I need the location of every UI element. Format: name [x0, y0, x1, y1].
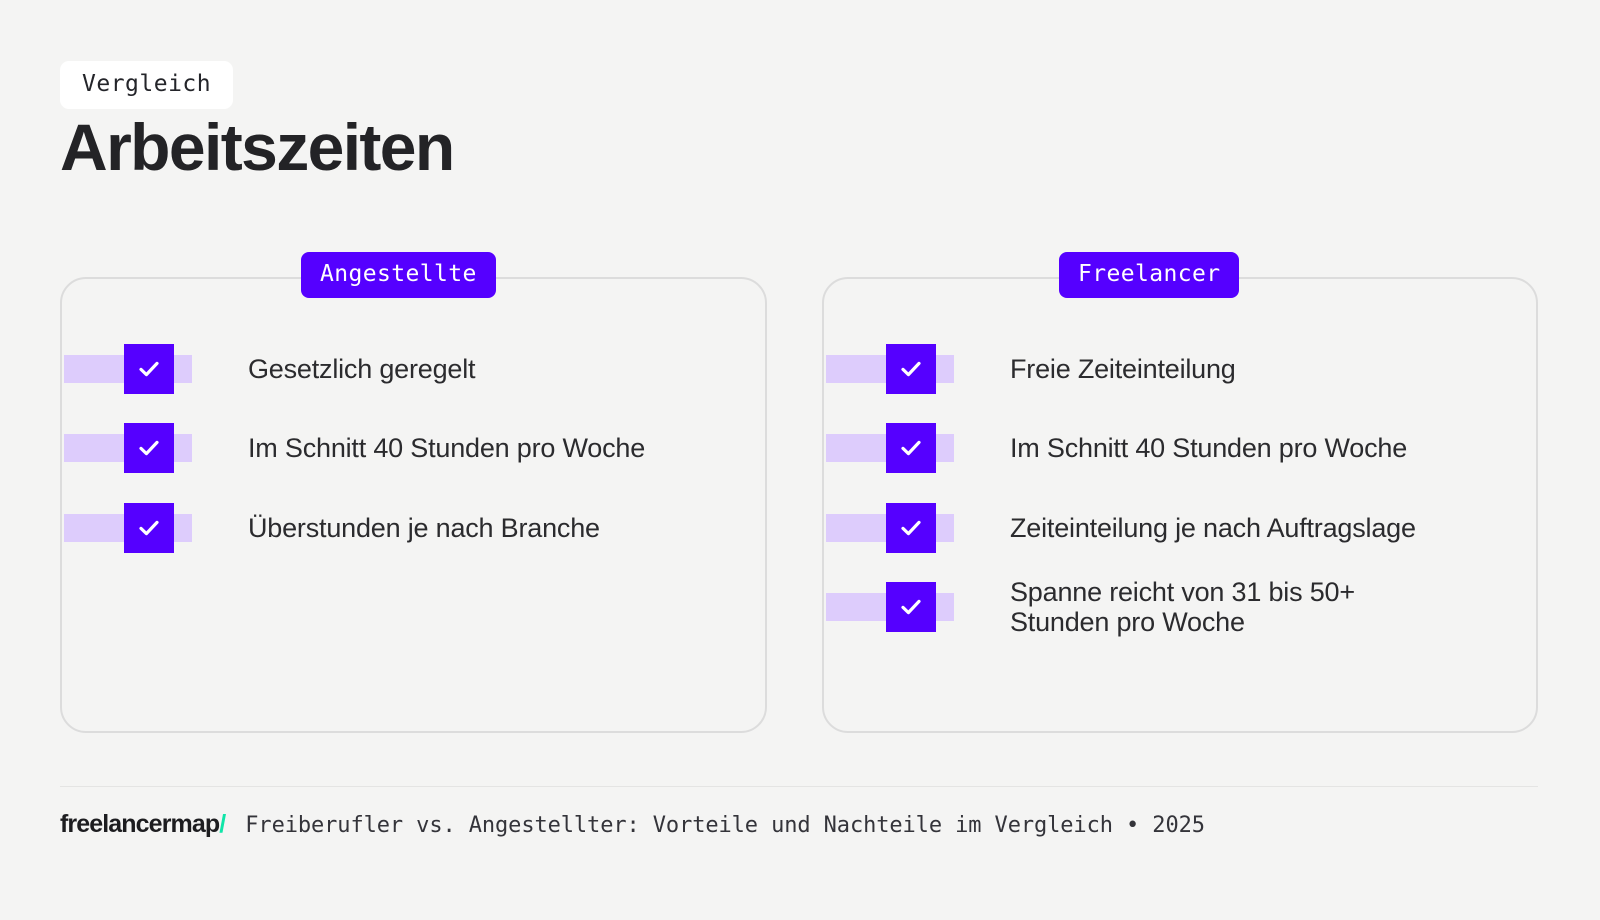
checklist-row: Im Schnitt 40 Stunden pro Woche — [824, 423, 1536, 473]
card-angestellte: Angestellte Gesetzlich geregeltIm Schnit… — [60, 277, 767, 733]
card-badge-freelancer: Freelancer — [1059, 252, 1239, 298]
checklist-row-label: Im Schnitt 40 Stunden pro Woche — [248, 433, 645, 463]
checklist-row-label: Im Schnitt 40 Stunden pro Woche — [1010, 433, 1407, 463]
checklist-row: Freie Zeiteinteilung — [824, 344, 1536, 394]
infographic-page: Vergleich Arbeitszeiten Angestellte Gese… — [0, 0, 1600, 920]
check-icon — [124, 503, 174, 553]
card-badge-angestellte: Angestellte — [301, 252, 496, 298]
eyebrow-badge: Vergleich — [60, 61, 233, 109]
logo-wordmark: freelancermap — [60, 810, 219, 838]
checklist-row-label: Überstunden je nach Branche — [248, 513, 600, 543]
checklist-row-label: Freie Zeiteinteilung — [1010, 354, 1236, 384]
card-freelancer: Freelancer Freie ZeiteinteilungIm Schnit… — [822, 277, 1538, 733]
checklist-row-label: Gesetzlich geregelt — [248, 354, 475, 384]
checklist-row: Überstunden je nach Branche — [62, 503, 765, 553]
page-title: Arbeitszeiten — [60, 114, 454, 180]
footer-caption: Freiberufler vs. Angestellter: Vorteile … — [245, 815, 1205, 837]
checklist-row: Zeiteinteilung je nach Auftragslage — [824, 503, 1536, 553]
footer: freelancermap/ Freiberufler vs. Angestel… — [60, 812, 1205, 837]
check-icon — [124, 344, 174, 394]
check-icon — [886, 423, 936, 473]
checklist-row: Gesetzlich geregelt — [62, 344, 765, 394]
checklist-row-label: Zeiteinteilung je nach Auftragslage — [1010, 513, 1416, 543]
checklist-row-label: Spanne reicht von 31 bis 50+ Stunden pro… — [1010, 577, 1355, 637]
checklist-row: Spanne reicht von 31 bis 50+ Stunden pro… — [824, 582, 1536, 632]
check-icon — [886, 582, 936, 632]
freelancermap-logo[interactable]: freelancermap/ — [60, 812, 225, 837]
logo-slash-icon: / — [219, 810, 225, 838]
checklist-row: Im Schnitt 40 Stunden pro Woche — [62, 423, 765, 473]
footer-divider — [60, 786, 1538, 787]
check-icon — [124, 423, 174, 473]
check-icon — [886, 344, 936, 394]
check-icon — [886, 503, 936, 553]
